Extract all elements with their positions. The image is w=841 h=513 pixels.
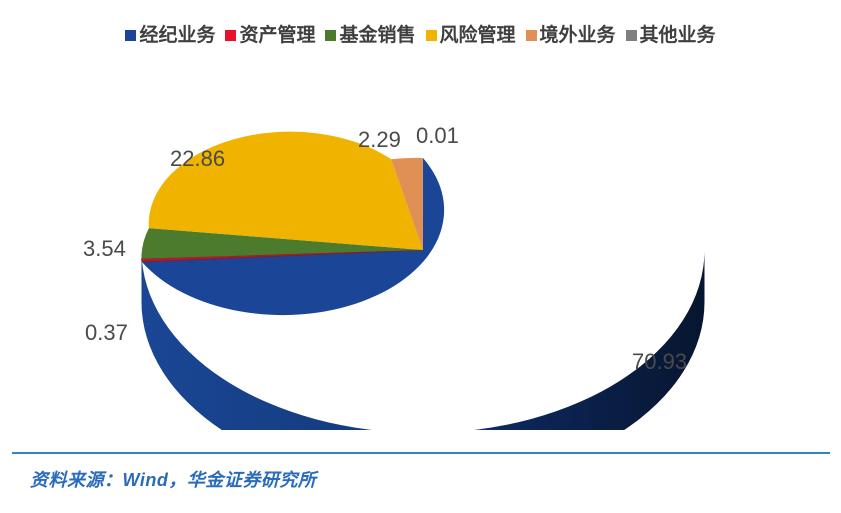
value-label-fund-sales: 3.54 [83, 238, 126, 260]
source-note: 资料来源：Wind，华金证券研究所 [30, 466, 316, 492]
pie-chart: 22.86 2.29 0.01 3.54 0.37 70.93 [0, 70, 841, 430]
legend-square-icon [626, 30, 637, 41]
legend-item-label: 境外业务 [540, 26, 616, 45]
legend-item-risk-management[interactable]: 风险管理 [426, 26, 516, 45]
value-label-asset-management: 0.37 [85, 322, 128, 344]
footer-divider [12, 452, 830, 454]
legend-item-fund-sales[interactable]: 基金销售 [325, 26, 415, 45]
legend-item-label: 经纪业务 [139, 26, 215, 45]
legend-square-icon [125, 30, 136, 41]
legend-square-icon [225, 30, 236, 41]
legend-item-label: 资产管理 [239, 26, 315, 45]
value-label-overseas: 2.29 [358, 129, 401, 151]
legend-square-icon [426, 30, 437, 41]
value-label-risk-management: 22.86 [170, 148, 225, 170]
legend-item-brokerage[interactable]: 经纪业务 [125, 26, 215, 45]
value-label-brokerage: 70.93 [632, 351, 687, 373]
legend-item-label: 基金销售 [339, 26, 415, 45]
legend-square-icon [325, 30, 336, 41]
legend-square-icon [526, 30, 537, 41]
chart-legend: 经纪业务 资产管理 基金销售 风险管理 境外业务 其他业务 [0, 26, 841, 45]
legend-item-label: 风险管理 [440, 26, 516, 45]
legend-item-label: 其他业务 [640, 26, 716, 45]
legend-item-asset-management[interactable]: 资产管理 [225, 26, 315, 45]
legend-item-overseas[interactable]: 境外业务 [526, 26, 616, 45]
value-label-other: 0.01 [416, 125, 459, 147]
legend-item-other[interactable]: 其他业务 [626, 26, 716, 45]
